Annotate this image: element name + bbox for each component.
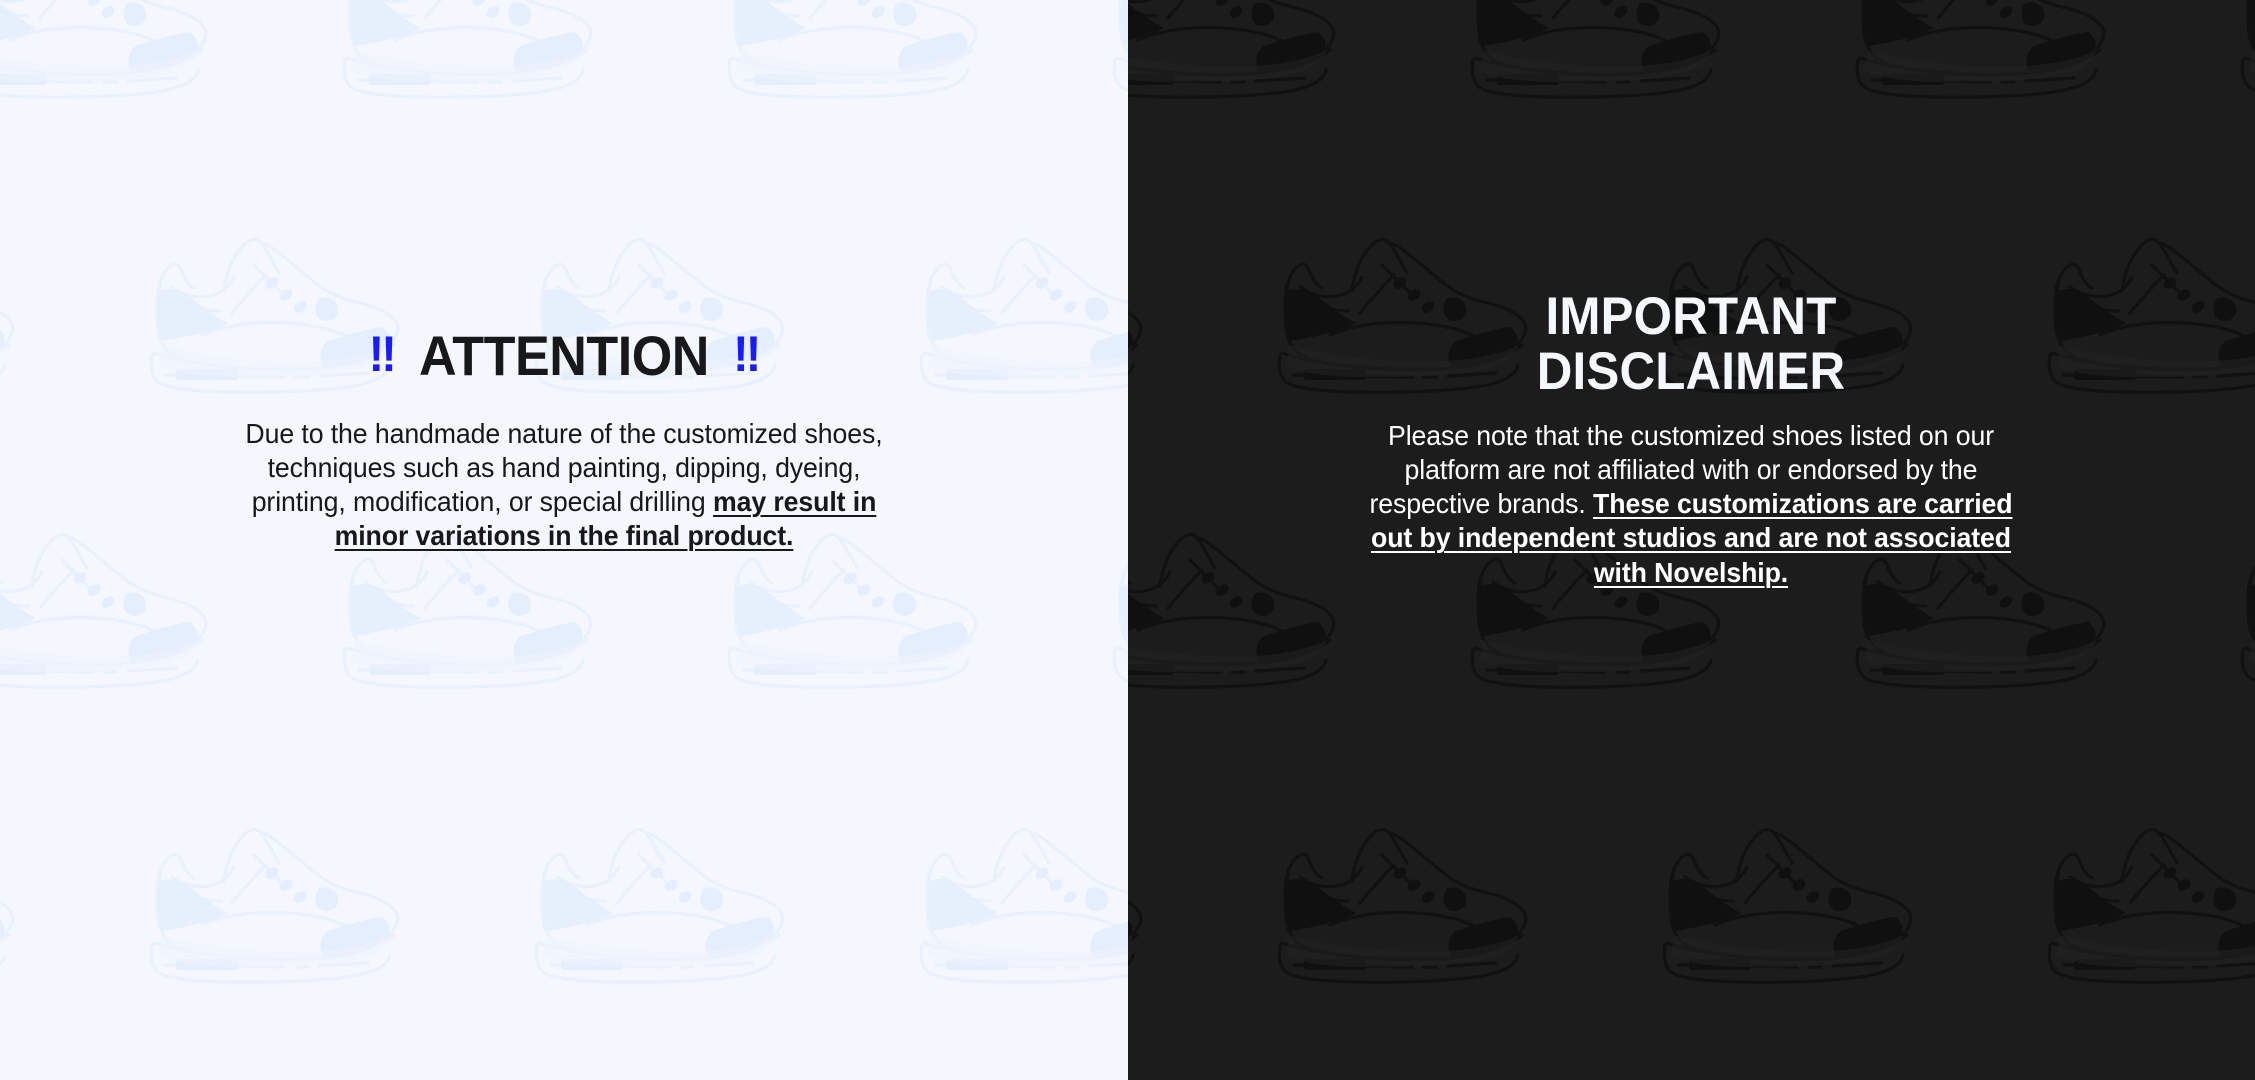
attention-body: Due to the handmade nature of the custom… (244, 417, 884, 553)
sneaker-icon (0, 785, 47, 1000)
sneaker-icon (710, 0, 1010, 115)
sneaker-icon (1128, 490, 1368, 705)
sneaker-icon (2030, 785, 2255, 1000)
sneaker-icon (517, 785, 817, 1000)
sneaker-icon (0, 490, 240, 705)
attention-heading-text: ATTENTION (419, 327, 709, 385)
disclaimer-content: IMPORTANT DISCLAIMER Please note that th… (1341, 290, 2041, 590)
double-exclamation-icon-right: ‼ (733, 329, 759, 379)
sneaker-icon (902, 785, 1128, 1000)
sneaker-icon (1095, 490, 1128, 705)
sneaker-icon (0, 0, 240, 115)
disclaimer-heading-line1: IMPORTANT (1546, 287, 1837, 346)
disclaimer-banner: ‼ ATTENTION ‼ Due to the handmade nature… (0, 0, 2255, 1080)
sneaker-icon (2030, 195, 2255, 410)
disclaimer-heading-line2: DISCLAIMER (1537, 342, 1846, 401)
sneaker-icon (1260, 785, 1560, 1000)
sneaker-icon (1838, 0, 2138, 115)
sneaker-icon (0, 195, 47, 410)
attention-heading: ‼ ATTENTION ‼ (257, 327, 871, 385)
sneaker-icon (1453, 0, 1753, 115)
disclaimer-body: Please note that the customized shoes li… (1352, 419, 2031, 589)
sneaker-icon (1128, 785, 1175, 1000)
sneaker-icon (1645, 785, 1945, 1000)
sneaker-icon (1128, 0, 1368, 115)
sneaker-icon (2223, 0, 2255, 115)
sneaker-icon (1095, 0, 1128, 115)
attention-content: ‼ ATTENTION ‼ Due to the handmade nature… (234, 327, 894, 553)
sneaker-icon (2223, 490, 2255, 705)
disclaimer-heading: IMPORTANT DISCLAIMER (1366, 290, 2017, 399)
sneaker-icon (325, 0, 625, 115)
double-exclamation-icon-left: ‼ (368, 329, 394, 379)
sneaker-icon (132, 785, 432, 1000)
sneaker-icon (1128, 195, 1175, 410)
disclaimer-panel: IMPORTANT DISCLAIMER Please note that th… (1128, 0, 2255, 1080)
sneaker-icon (902, 195, 1128, 410)
attention-panel: ‼ ATTENTION ‼ Due to the handmade nature… (0, 0, 1128, 1080)
